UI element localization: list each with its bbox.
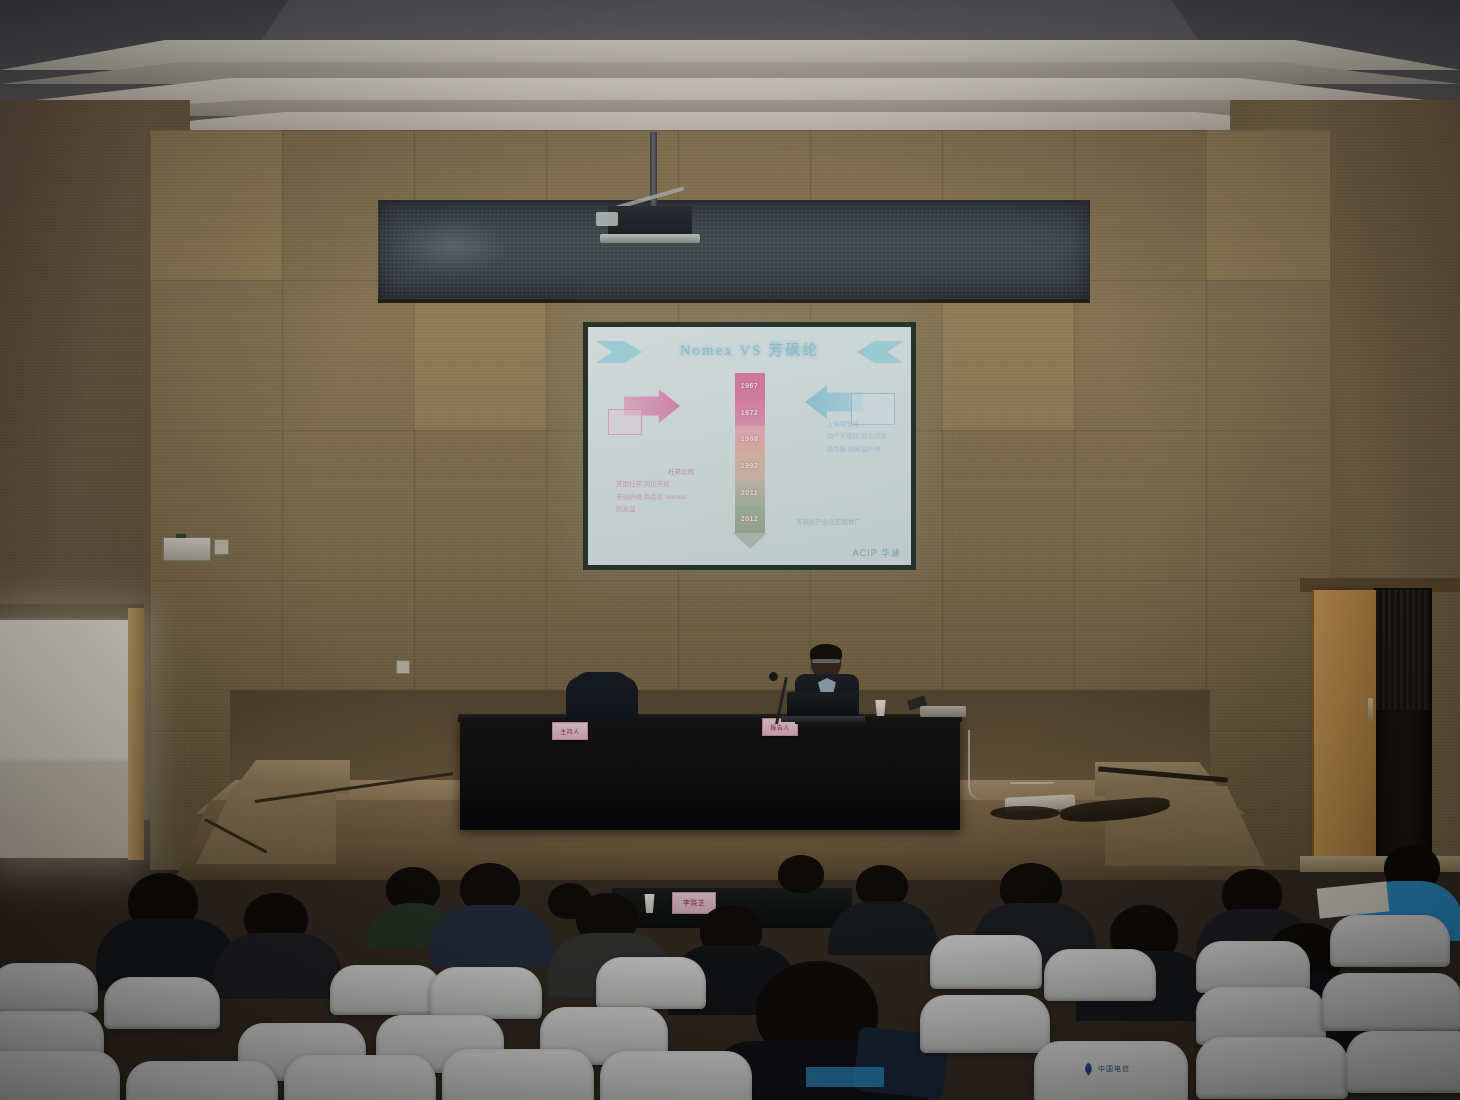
timeline-column: 1967 1972 1988 1992 2011 2012 [735, 373, 765, 533]
china-telecom-mark-icon [1082, 1062, 1095, 1076]
timeline-segment: 1972 [735, 400, 765, 427]
seat[interactable] [1196, 1037, 1348, 1099]
door-left-jamb [128, 608, 144, 860]
av-control-led-icon [176, 534, 186, 538]
seat[interactable] [1196, 941, 1310, 993]
timeline-arrow-down-icon [733, 533, 767, 549]
microphone-head-icon [769, 672, 778, 681]
seat[interactable] [1346, 1031, 1460, 1093]
av-control-box[interactable] [163, 537, 211, 561]
seat[interactable] [430, 967, 542, 1019]
audience-head [778, 855, 824, 893]
slide-left-text: 杜邦公司 美国杜邦 间位芳纶 芳纶纤维 商品名 Nomex 耐高温 [616, 467, 694, 516]
slide-left-heading: 杜邦公司 [668, 467, 694, 479]
slide-right-line: 上海特安纶 [827, 419, 887, 431]
timeline-segment: 1988 [735, 426, 765, 453]
projector-base-plate [600, 234, 700, 243]
slide-right-line: 国产芳砜纶 自主研发 [827, 431, 887, 443]
slide-right-line: 高性能 耐高温纤维 [827, 444, 887, 456]
laptop-keyboard[interactable] [781, 716, 865, 722]
door-right-curtain [1376, 590, 1430, 710]
seat[interactable] [596, 957, 706, 1009]
slide-right-text: 上海特安纶 国产芳砜纶 自主研发 高性能 耐高温纤维 [827, 419, 887, 456]
doorway-left-open[interactable] [0, 620, 132, 858]
seat[interactable] [104, 977, 220, 1029]
projector-lens [596, 212, 618, 226]
power-cable [968, 730, 1018, 800]
timeline-segment: 1967 [735, 373, 765, 400]
timeline-segment: 2011 [735, 480, 765, 507]
projection-screen: Nomex VS 芳砜纶 1967 1972 1988 1992 2011 20… [583, 322, 916, 570]
seat[interactable] [920, 995, 1050, 1053]
audience-shoulders [430, 905, 554, 967]
slide-surface: Nomex VS 芳砜纶 1967 1972 1988 1992 2011 20… [588, 327, 911, 565]
slide-left-line: 美国杜邦 间位芳纶 [616, 479, 694, 491]
acoustic-panel-band [378, 200, 1090, 303]
light-switch[interactable] [214, 539, 229, 555]
timeline-segment: 2012 [735, 506, 765, 533]
china-telecom-logo: 中国电信 [1082, 1062, 1130, 1076]
seat[interactable] [0, 963, 98, 1013]
wall-outlet [396, 660, 410, 674]
name-placard-left: 主持人 [552, 722, 588, 740]
seat[interactable] [284, 1055, 436, 1100]
power-cable [1010, 782, 1054, 784]
lecture-hall-photo: Nomex VS 芳砜纶 1967 1972 1988 1992 2011 20… [0, 0, 1460, 1100]
slide-bottom-text: 芳砜纶产业化应用推广 [796, 517, 861, 529]
head-table [460, 718, 960, 830]
seat[interactable] [1330, 915, 1450, 967]
seat[interactable] [0, 1051, 120, 1100]
desk-device [920, 706, 966, 717]
audience-shoulders [214, 933, 342, 999]
audience-area [0, 845, 1460, 1100]
cable-bundle [990, 806, 1060, 820]
seat[interactable] [1322, 973, 1460, 1031]
slide-left-line: 耐高温 [616, 504, 694, 516]
seat[interactable] [1044, 949, 1156, 1001]
audience-collar-blue [806, 1067, 884, 1087]
seat[interactable] [930, 935, 1042, 989]
slide-logo: ACIP 华迪 [853, 546, 901, 559]
door-left-header [0, 604, 144, 618]
door-handle-icon[interactable] [1368, 698, 1373, 722]
slide-left-image-placeholder [608, 409, 642, 435]
empty-chair [566, 676, 638, 722]
seat[interactable] [126, 1061, 278, 1100]
timeline-segment: 1992 [735, 453, 765, 480]
slide-title: Nomex VS 芳砜纶 [588, 339, 911, 360]
audience-shoulders [828, 901, 938, 955]
seat[interactable] [600, 1051, 752, 1100]
slide-left-line: 芳纶纤维 商品名 Nomex [616, 492, 694, 504]
eyeglasses-icon [812, 659, 840, 663]
seat[interactable] [442, 1049, 594, 1100]
door-right-panel[interactable] [1312, 590, 1376, 868]
china-telecom-label: 中国电信 [1098, 1064, 1130, 1074]
seat[interactable] [330, 965, 442, 1015]
